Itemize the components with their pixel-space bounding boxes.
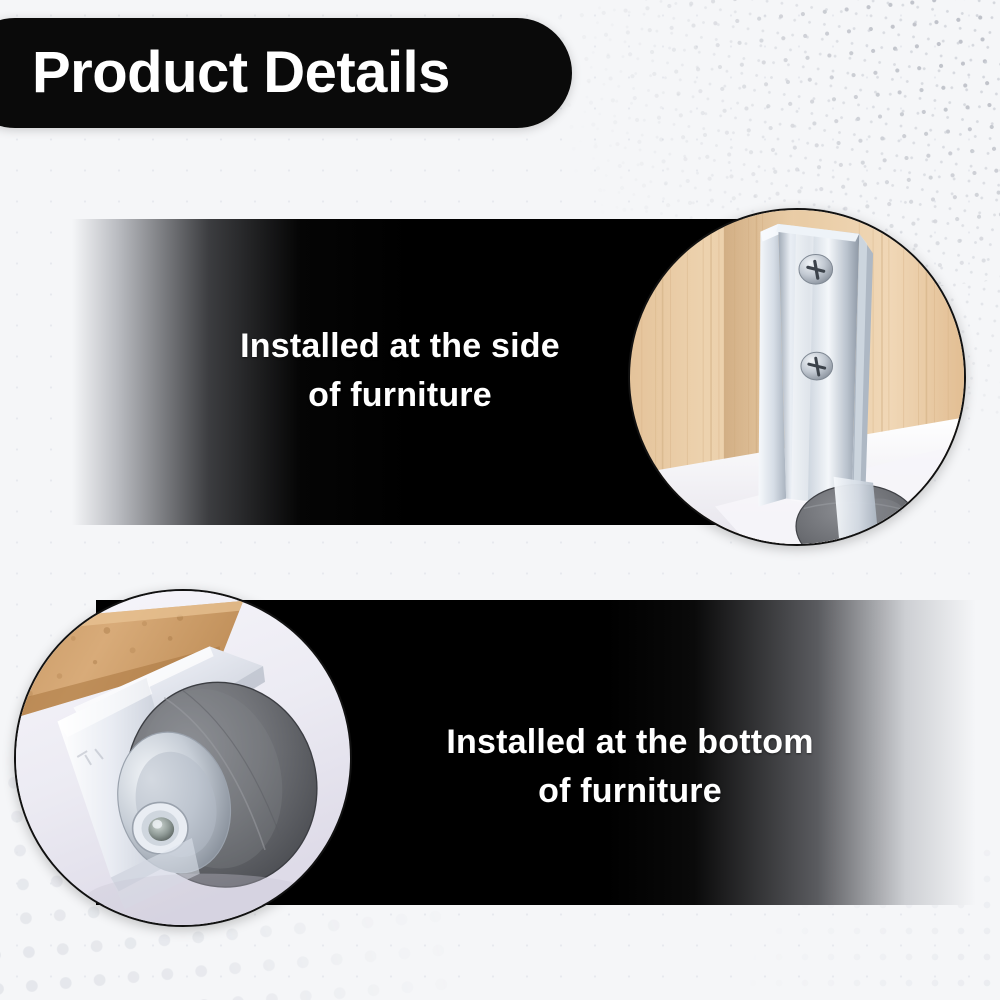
page-header-banner: Product Details bbox=[0, 18, 572, 128]
page-title: Product Details bbox=[0, 44, 450, 102]
product-details-page: Product Details Installed at the side of… bbox=[0, 0, 1000, 1000]
photo-caster-installed-on-side bbox=[628, 208, 966, 546]
caption-bottom-install: Installed at the bottom of furniture bbox=[350, 718, 910, 817]
screw-upper-icon bbox=[799, 254, 833, 284]
photo-side-illustration bbox=[630, 210, 964, 544]
caption-bottom-line-1: Installed at the bottom bbox=[350, 718, 910, 767]
photo-caster-installed-on-bottom bbox=[14, 589, 352, 927]
screw-lower-icon bbox=[801, 352, 833, 380]
caption-bottom-line-2: of furniture bbox=[350, 767, 910, 816]
caption-side-line-1: Installed at the side bbox=[150, 322, 650, 371]
caption-side-install: Installed at the side of furniture bbox=[150, 322, 650, 421]
caption-side-line-2: of furniture bbox=[150, 371, 650, 420]
photo-bottom-illustration bbox=[16, 591, 350, 925]
